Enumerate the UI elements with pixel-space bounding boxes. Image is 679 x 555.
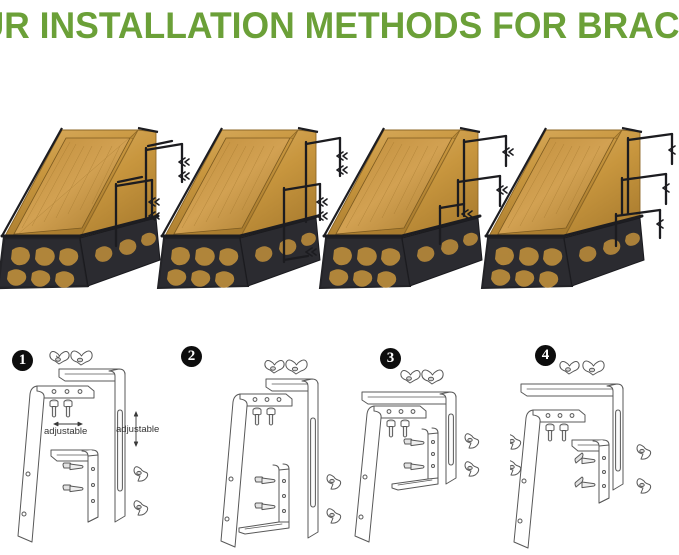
bolt (63, 463, 83, 492)
wing-nut (510, 435, 521, 475)
bolt (50, 400, 72, 417)
bolt (387, 420, 409, 437)
bolt (575, 453, 595, 488)
wing-nut (637, 445, 651, 493)
step-badge-4: 4 (535, 345, 556, 366)
method-4: 4 (510, 336, 679, 555)
label-adjustable-vertical: adjustable (116, 424, 159, 435)
wing-nut (401, 370, 443, 384)
method-2: 2 (172, 336, 347, 555)
planter-photo-4 (480, 110, 676, 305)
bracket-diagram-row: 1 (0, 336, 679, 555)
method-1: 1 (2, 336, 177, 555)
planter-photo-row (0, 110, 679, 310)
bolt (546, 424, 568, 441)
page-title: FOUR INSTALLATION METHODS FOR BRACKET (0, 7, 679, 45)
wing-nut (134, 467, 148, 515)
instruction-graphic: FOUR INSTALLATION METHODS FOR BRACKET (0, 0, 679, 555)
step-badge-3: 3 (380, 348, 401, 369)
bolt (253, 408, 275, 425)
title-banner: FOUR INSTALLATION METHODS FOR BRACKET (0, 0, 679, 52)
step-badge-2: 2 (181, 346, 202, 367)
label-adjustable-horizontal: adjustable (44, 426, 87, 437)
step-badge-1: 1 (12, 350, 33, 371)
wing-nut (50, 351, 92, 365)
wing-nut (465, 434, 479, 476)
bolt (404, 439, 424, 470)
bolt (255, 477, 275, 510)
wing-nut (327, 475, 341, 523)
wing-nut (560, 361, 604, 375)
method-3: 3 (342, 336, 517, 555)
wing-nut (265, 360, 307, 374)
